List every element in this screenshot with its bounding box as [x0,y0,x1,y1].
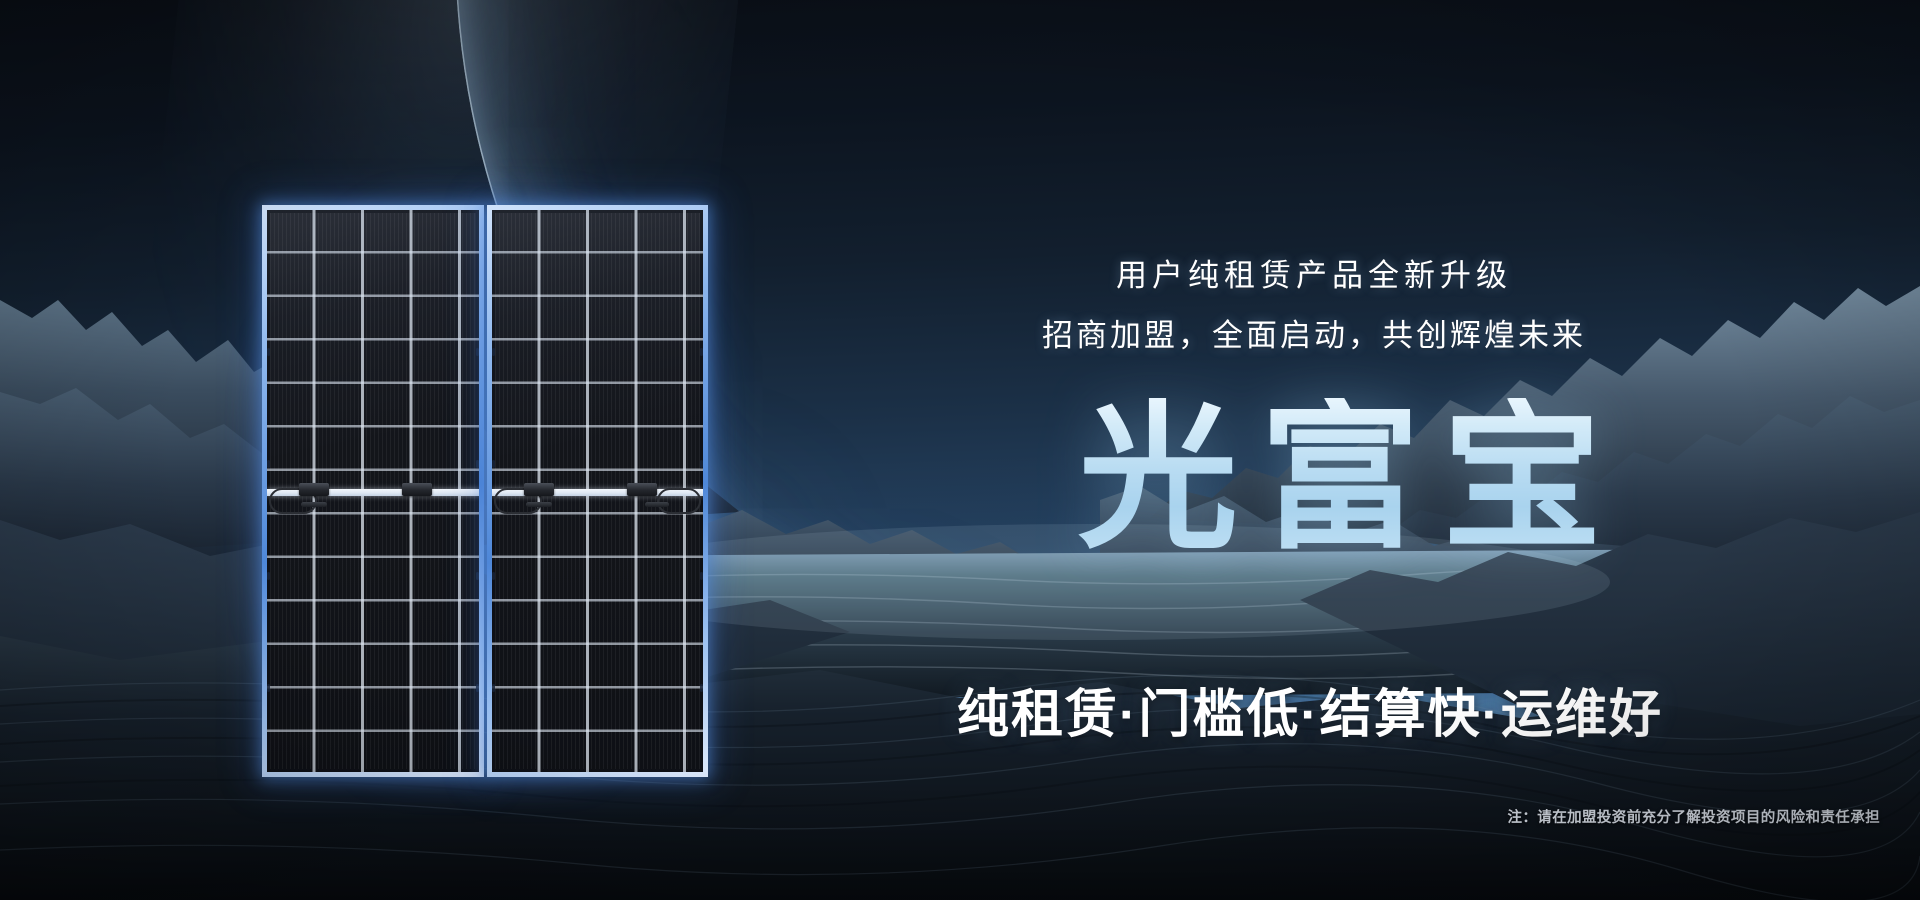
frame-screw [700,572,703,580]
junction-cable [657,488,701,514]
frame-screw [492,572,495,580]
frame-screw [267,460,270,468]
footnote-disclaimer: 注：请在加盟投资前充分了解投资项目的风险和责任承担 [1100,806,1880,827]
junction-box [299,483,329,496]
frame-screw [267,572,270,580]
frame-screw [267,684,270,692]
solar-module-right [487,205,709,777]
solar-panel [262,205,708,777]
junction-box [627,483,657,496]
frame-screw [700,684,703,692]
solar-panel-modules [262,205,708,777]
headline-line-1: 用户纯租赁产品全新升级 [954,250,1674,295]
frame-screw [492,460,495,468]
frame-screw [492,348,495,356]
headline-line-2: 招商加盟，全面启动，共创辉煌未来 [954,310,1674,355]
cable-connector [301,502,327,507]
frame-screw [476,572,479,580]
tagline: 纯租赁·门槛低·结算快·运维好 [840,672,1780,747]
junction-box [402,483,432,496]
frame-screw [476,684,479,692]
promo-banner: 用户纯租赁产品全新升级 招商加盟，全面启动，共创辉煌未来 光富宝 纯租赁·门槛低… [0,0,1920,900]
junction-box [524,483,554,496]
frame-screw [476,460,479,468]
frame-screw [700,460,703,468]
cable-connector [645,502,669,507]
cable-connector [526,502,552,507]
solar-module-left [262,205,484,777]
frame-screw [267,348,270,356]
frame-screw [700,348,703,356]
frame-screw [492,684,495,692]
brand-title: 光富宝 [1020,398,1660,558]
frame-screw [476,348,479,356]
